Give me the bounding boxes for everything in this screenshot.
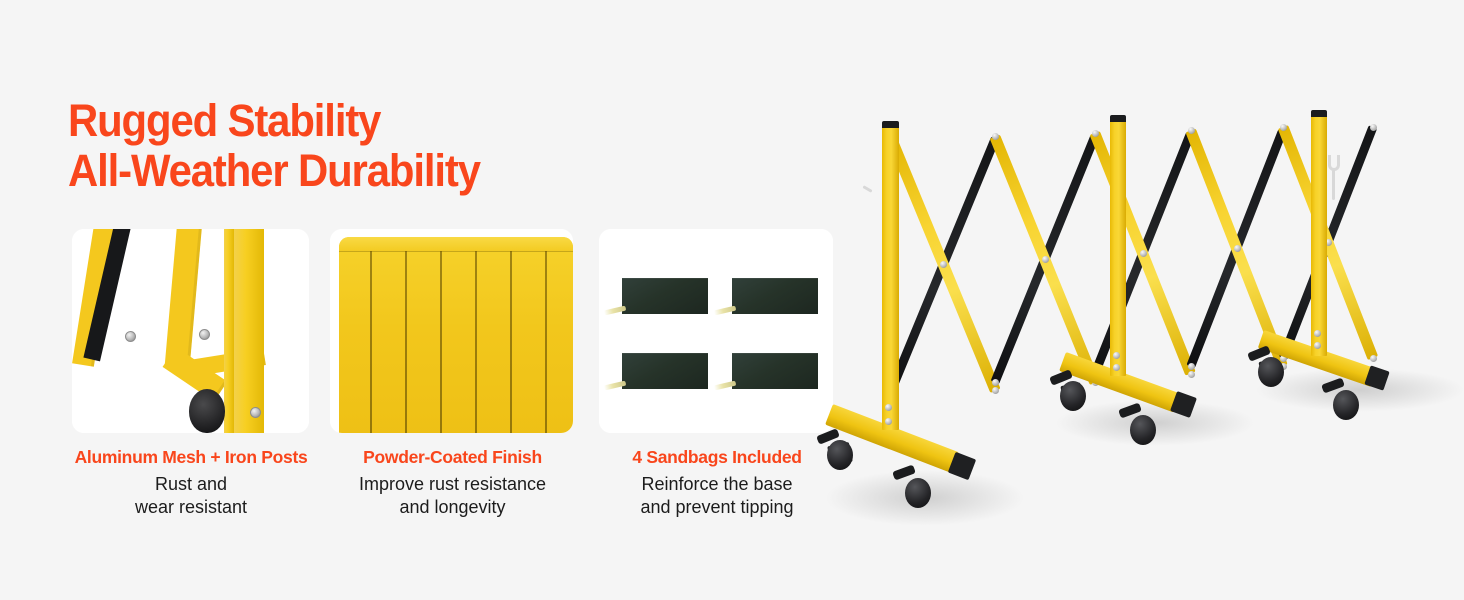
feature-subtitle: Improve rust resistance and longevity bbox=[325, 473, 580, 519]
latch-pin bbox=[862, 185, 872, 193]
feature-image-powder-coated-finish bbox=[330, 229, 573, 433]
caster-wheel bbox=[1333, 390, 1359, 420]
post-inner bbox=[224, 229, 234, 433]
caster-wheel bbox=[905, 478, 931, 508]
rivet-icon bbox=[125, 331, 136, 342]
panel-seam bbox=[510, 251, 512, 433]
latch-pin bbox=[1332, 170, 1335, 200]
feature-title: Aluminum Mesh + Iron Posts bbox=[60, 447, 322, 468]
headline-line-1: Rugged Stability bbox=[68, 95, 380, 146]
rivet-icon bbox=[1188, 127, 1195, 134]
rivet-icon bbox=[1188, 363, 1195, 370]
feature-subtitle-line-1: Improve rust resistance bbox=[325, 473, 580, 496]
panel-seam bbox=[405, 251, 407, 433]
post-cap bbox=[882, 121, 899, 128]
rivet-icon bbox=[1092, 130, 1099, 137]
feature-card-4-sandbags-included bbox=[599, 229, 833, 433]
caster-wheel bbox=[189, 389, 225, 433]
rivet-icon bbox=[1370, 355, 1377, 362]
feature-card-aluminum-mesh-iron-posts bbox=[72, 229, 309, 433]
rivet-icon bbox=[885, 404, 892, 411]
rivet-icon bbox=[1314, 330, 1321, 337]
page-title: Rugged Stability All-Weather Durability bbox=[68, 96, 480, 197]
feature-card-powder-coated-finish bbox=[330, 229, 573, 433]
feature-subtitle-line-2: and longevity bbox=[325, 496, 580, 519]
feature-caption-powder-coated-finish: Powder-Coated Finish Improve rust resist… bbox=[325, 447, 580, 519]
rivet-icon bbox=[1280, 124, 1287, 131]
post-left bbox=[882, 124, 899, 430]
rivet-icon bbox=[1370, 124, 1377, 131]
rivet-icon bbox=[885, 418, 892, 425]
panel-seam bbox=[440, 251, 442, 433]
feature-subtitle: Rust and wear resistant bbox=[60, 473, 322, 519]
rivet-icon bbox=[1314, 342, 1321, 349]
headline-line-2: All-Weather Durability bbox=[68, 146, 480, 196]
feature-subtitle-line-2: and prevent tipping bbox=[597, 496, 837, 519]
powder-coated-panel bbox=[339, 237, 573, 433]
feature-subtitle-line-2: wear resistant bbox=[60, 496, 322, 519]
rivet-icon bbox=[1188, 371, 1195, 378]
hook-icon bbox=[1328, 155, 1340, 171]
post-outer bbox=[234, 229, 264, 433]
slat-yellow-mid bbox=[165, 229, 202, 367]
feature-caption-4-sandbags-included: 4 Sandbags Included Reinforce the base a… bbox=[597, 447, 837, 519]
rivet-icon bbox=[250, 407, 261, 418]
infographic-canvas: Rugged Stability All-Weather Durability bbox=[0, 0, 1464, 600]
rivet-icon bbox=[1140, 250, 1147, 257]
rivet-icon bbox=[1113, 352, 1120, 359]
rivet-icon bbox=[992, 133, 999, 140]
product-photo bbox=[805, 0, 1464, 600]
feature-subtitle-line-1: Rust and bbox=[60, 473, 322, 496]
feature-subtitle: Reinforce the base and prevent tipping bbox=[597, 473, 837, 519]
feature-image-aluminum-mesh-iron-posts bbox=[72, 229, 309, 433]
caster-wheel bbox=[1258, 357, 1284, 387]
caster-wheel bbox=[1060, 381, 1086, 411]
panel-seam bbox=[545, 251, 547, 433]
rivet-icon bbox=[992, 379, 999, 386]
panel-seam bbox=[370, 251, 372, 433]
caster-wheel bbox=[827, 440, 853, 470]
rivet-icon bbox=[940, 261, 947, 268]
rivet-icon bbox=[199, 329, 210, 340]
caster-wheel bbox=[1130, 415, 1156, 445]
post-cap bbox=[1311, 110, 1327, 117]
sandbag bbox=[622, 353, 708, 389]
post-right bbox=[1311, 113, 1327, 356]
feature-title: Powder-Coated Finish bbox=[325, 447, 580, 468]
post-cap bbox=[1110, 115, 1126, 122]
feature-image-4-sandbags-included bbox=[599, 229, 833, 433]
rivet-icon bbox=[1234, 245, 1241, 252]
post-middle bbox=[1110, 118, 1126, 376]
rivet-icon bbox=[992, 387, 999, 394]
rivet-icon bbox=[1113, 364, 1120, 371]
rivet-icon bbox=[1042, 256, 1049, 263]
sandbag bbox=[622, 278, 708, 314]
panel-top-lip bbox=[339, 237, 573, 251]
feature-title: 4 Sandbags Included bbox=[597, 447, 837, 468]
feature-caption-aluminum-mesh-iron-posts: Aluminum Mesh + Iron Posts Rust and wear… bbox=[60, 447, 322, 519]
panel-seam bbox=[475, 251, 477, 433]
floor-shadow bbox=[1055, 400, 1255, 446]
feature-subtitle-line-1: Reinforce the base bbox=[597, 473, 837, 496]
